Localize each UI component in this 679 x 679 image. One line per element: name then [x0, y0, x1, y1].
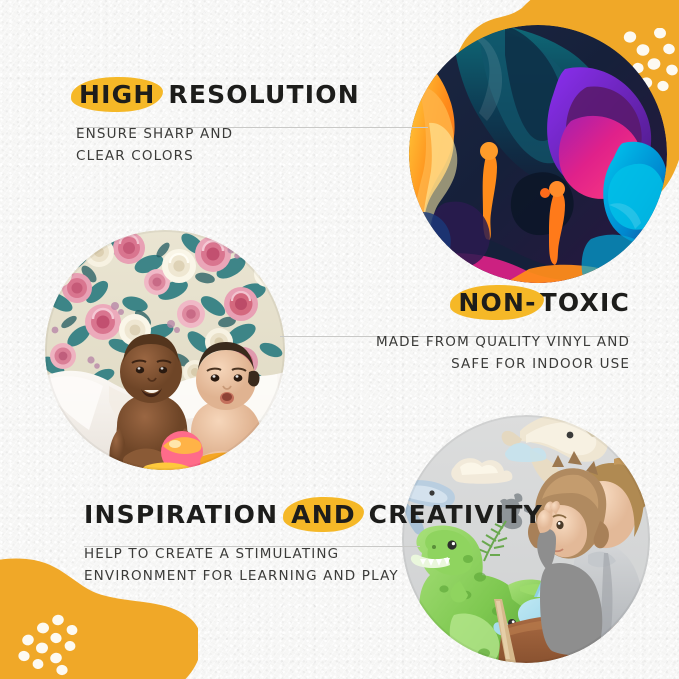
headline-suffix: TOXIC [540, 288, 630, 317]
body-inspiration-and-creativity: HELP TO CREATE A STIMULATING ENVIRONMENT… [84, 544, 543, 588]
image-abstract-fluid-art [409, 25, 667, 283]
headline-suffix: CREATIVITY [359, 500, 543, 529]
image-babies-floral-wallpaper [45, 230, 285, 470]
body-line: CLEAR COLORS [76, 146, 360, 168]
headline-high-resolution: HIGH RESOLUTION [76, 82, 360, 107]
marker-highlight-non: NON- [455, 290, 539, 315]
feature-non-toxic: NON-TOXIC MADE FROM QUALITY VINYL AND SA… [330, 290, 630, 376]
marker-highlight-high: HIGH [76, 82, 158, 107]
feature-inspiration-and-creativity: INSPIRATION AND CREATIVITY HELP TO CREAT… [84, 502, 543, 588]
dot-cluster-bottom-left [16, 614, 82, 676]
headline-non-toxic: NON-TOXIC [455, 290, 630, 315]
infographic-canvas: HIGH RESOLUTION ENSURE SHARP AND CLEAR C… [0, 0, 679, 679]
body-high-resolution: ENSURE SHARP AND CLEAR COLORS [76, 124, 360, 168]
headline-prefix: INSPIRATION [84, 500, 288, 529]
body-line: ENSURE SHARP AND [76, 124, 360, 146]
feature-high-resolution: HIGH RESOLUTION ENSURE SHARP AND CLEAR C… [76, 82, 360, 168]
body-non-toxic: MADE FROM QUALITY VINYL AND SAFE FOR IND… [330, 332, 630, 376]
body-line: SAFE FOR INDOOR USE [330, 354, 630, 376]
body-line: MADE FROM QUALITY VINYL AND [330, 332, 630, 354]
body-line: ENVIRONMENT FOR LEARNING AND PLAY [84, 566, 543, 588]
body-line: HELP TO CREATE A STIMULATING [84, 544, 543, 566]
headline-inspiration-and-creativity: INSPIRATION AND CREATIVITY [84, 502, 543, 527]
headline-suffix: RESOLUTION [158, 80, 359, 109]
marker-highlight-and: AND [288, 502, 359, 527]
